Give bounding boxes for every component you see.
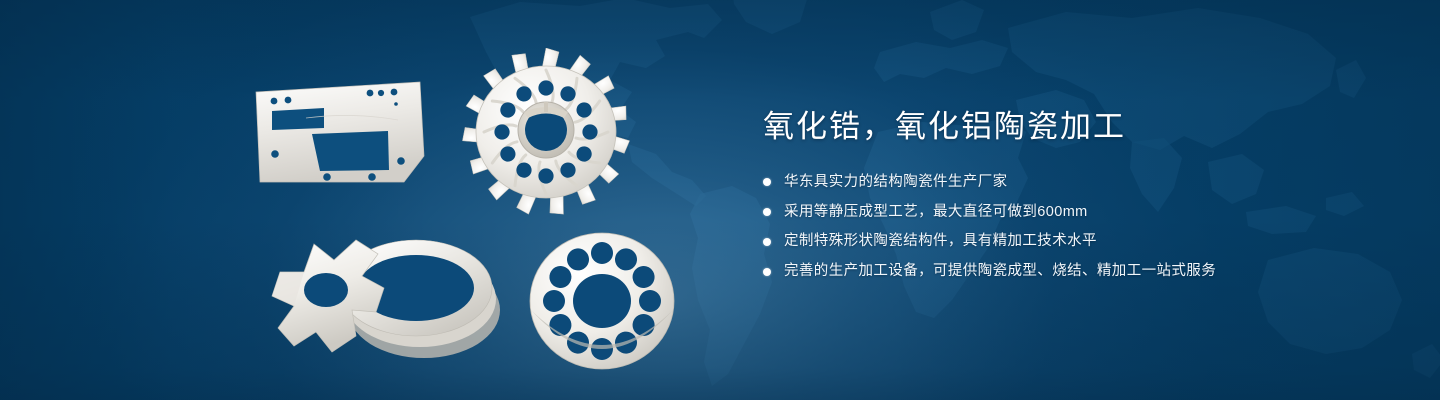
bullet-dot-icon: [763, 268, 771, 276]
page-title: 氧化锆，氧化铝陶瓷加工: [763, 108, 1383, 147]
list-item-label: 完善的生产加工设备，可提供陶瓷成型、烧结、精加工一站式服务: [784, 262, 1216, 281]
list-item-label: 采用等静压成型工艺，最大直径可做到600mm: [784, 203, 1088, 222]
perforated-ceramic-disc-image: [524, 228, 680, 374]
product-image-cluster: [0, 0, 720, 400]
list-item-label: 定制特殊形状陶瓷结构件，具有精加工技术水平: [784, 232, 1097, 251]
list-item: 华东具实力的结构陶瓷件生产厂家: [763, 173, 1383, 192]
bullet-dot-icon: [763, 208, 771, 216]
list-item-label: 华东具实力的结构陶瓷件生产厂家: [784, 173, 1008, 192]
hero-banner: 氧化锆，氧化铝陶瓷加工 华东具实力的结构陶瓷件生产厂家 采用等静压成型工艺，最大…: [0, 0, 1440, 400]
list-item: 采用等静压成型工艺，最大直径可做到600mm: [763, 203, 1383, 222]
machined-ceramic-plate-image: [248, 78, 428, 188]
bullet-dot-icon: [763, 178, 771, 186]
bullet-dot-icon: [763, 238, 771, 246]
ceramic-impeller-image: [452, 48, 640, 220]
feature-list: 华东具实力的结构陶瓷件生产厂家 采用等静压成型工艺，最大直径可做到600mm 定…: [763, 173, 1383, 281]
list-item: 定制特殊形状陶瓷结构件，具有精加工技术水平: [763, 232, 1383, 251]
cross-vane-and-rings-image: [252, 222, 520, 374]
list-item: 完善的生产加工设备，可提供陶瓷成型、烧结、精加工一站式服务: [763, 262, 1383, 281]
copy-block: 氧化锆，氧化铝陶瓷加工 华东具实力的结构陶瓷件生产厂家 采用等静压成型工艺，最大…: [763, 108, 1383, 281]
